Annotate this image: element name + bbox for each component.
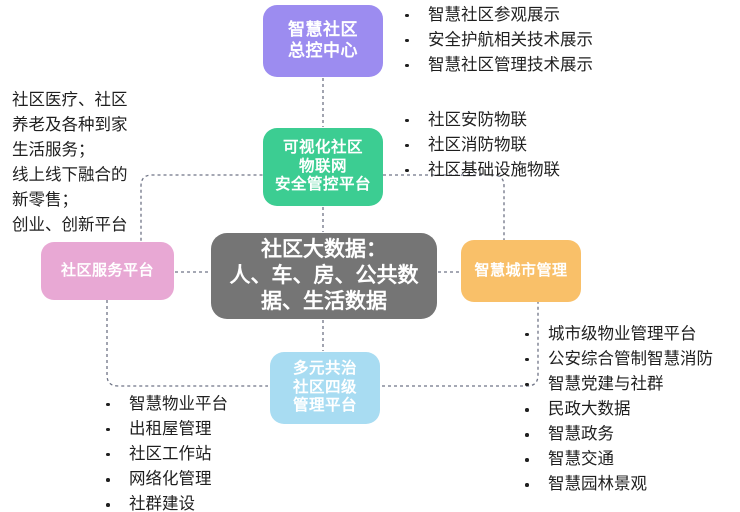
- list-item: 社群建设: [103, 492, 228, 512]
- list-item: 智慧党建与社群: [522, 372, 713, 397]
- list-item: 网络化管理: [103, 467, 228, 492]
- node-visual-community-iot-security-platform[interactable]: 可视化社区 物联网 安全管控平台: [263, 128, 383, 206]
- node-community-big-data-core[interactable]: 社区大数据： 人、车、房、公共数 据、生活数据: [211, 233, 437, 319]
- list-item: 智慧交通: [522, 447, 713, 472]
- node-line: 人、车、房、公共数: [230, 263, 419, 289]
- node-line: 管理平台: [293, 397, 357, 416]
- node-line: 总控中心: [288, 41, 358, 62]
- list-item: 城市级物业管理平台: [522, 322, 713, 347]
- node-line: 安全管控平台: [275, 176, 371, 195]
- list-item: 出租屋管理: [103, 417, 228, 442]
- node-line: 据、生活数据: [230, 289, 419, 315]
- annotation-list-city: 城市级物业管理平台 公安综合管制智慧消防 智慧党建与社群 民政大数据 智慧政务 …: [522, 322, 713, 498]
- node-line: 智慧社区: [288, 20, 358, 41]
- node-four-level-community-governance-platform[interactable]: 多元共治 社区四级 管理平台: [270, 352, 380, 424]
- diagram-canvas: 智慧社区 总控中心 可视化社区 物联网 安全管控平台 社区大数据： 人、车、房、…: [0, 0, 740, 512]
- list-item: 民政大数据: [522, 397, 713, 422]
- node-line: 物联网: [275, 158, 371, 177]
- list-item: 社区基础设施物联: [402, 158, 560, 183]
- list-item: 社区消防物联: [402, 133, 560, 158]
- annotation-list-iot: 社区安防物联 社区消防物联 社区基础设施物联: [402, 108, 560, 183]
- node-line: 多元共治: [293, 360, 357, 379]
- list-item: 智慧社区管理技术展示: [402, 53, 593, 78]
- node-line: 智慧城市管理: [474, 262, 567, 280]
- node-line: 可视化社区: [275, 139, 371, 158]
- node-smart-community-command-center[interactable]: 智慧社区 总控中心: [263, 5, 383, 77]
- node-smart-city-management[interactable]: 智慧城市管理: [461, 240, 581, 302]
- list-item: 安全护航相关技术展示: [402, 28, 593, 53]
- list-item: 智慧政务: [522, 422, 713, 447]
- node-line: 社区服务平台: [61, 262, 154, 280]
- annotation-list-command-center: 智慧社区参观展示 安全护航相关技术展示 智慧社区管理技术展示: [402, 3, 593, 78]
- node-line: 社区大数据：: [230, 237, 419, 263]
- annotation-list-governance: 智慧物业平台 出租屋管理 社区工作站 网络化管理 社群建设: [103, 392, 228, 512]
- list-item: 社区安防物联: [402, 108, 560, 133]
- list-item: 公安综合管制智慧消防: [522, 347, 713, 372]
- list-item: 智慧社区参观展示: [402, 3, 593, 28]
- node-community-service-platform[interactable]: 社区服务平台: [41, 242, 174, 300]
- node-line: 社区四级: [293, 379, 357, 398]
- list-item: 社区工作站: [103, 442, 228, 467]
- list-item: 智慧物业平台: [103, 392, 228, 417]
- annotation-service-note: 社区医疗、社区 养老及各种到家 生活服务； 线上线下融合的 新零售； 创业、创新…: [12, 88, 128, 238]
- list-item: 智慧园林景观: [522, 472, 713, 497]
